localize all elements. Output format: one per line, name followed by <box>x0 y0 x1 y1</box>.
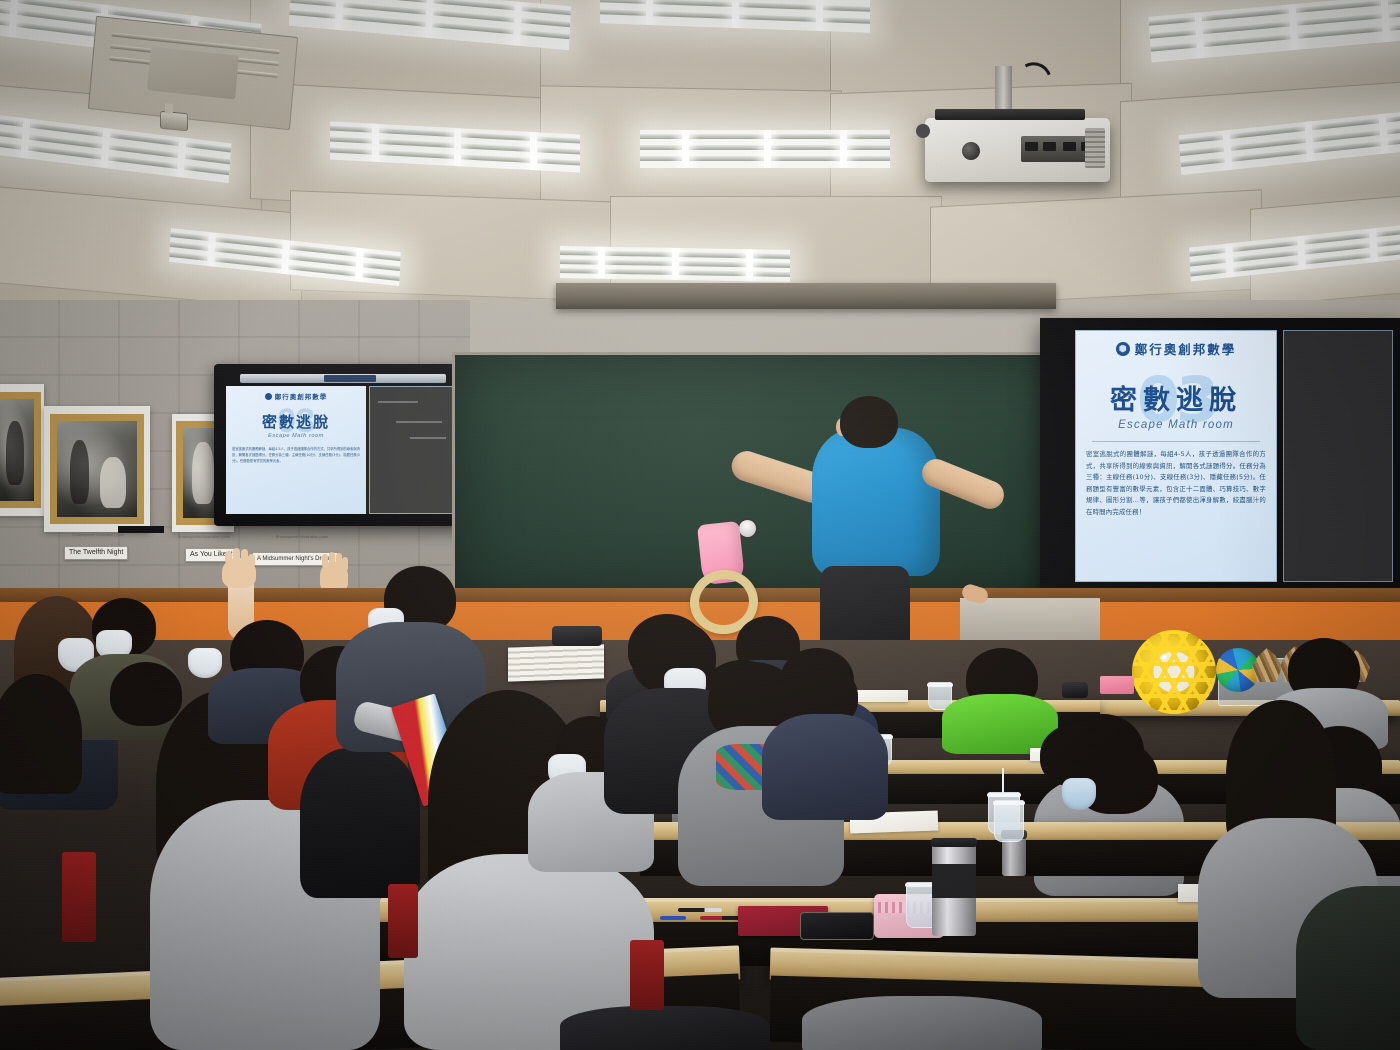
pink-box <box>1100 676 1134 694</box>
black-case <box>1062 682 1088 698</box>
slide-body-text: 密室逃脫式的團體解謎，每組4-5人，孩子透過團隊合作的方式，共享所得到的線索與資… <box>1086 449 1266 518</box>
poster-label-twelfth-night: The Twelfth Night <box>64 546 128 560</box>
tv-screen: 鄭行奧創邦數學 03 密數逃脫 Escape Math room 密室逃脫式的團… <box>226 386 460 514</box>
student-body <box>560 1006 770 1050</box>
poster-caption: Shakespeare illustration plate <box>176 534 232 539</box>
slide-logo-text: 鄭行奧創邦數學 <box>1135 339 1237 358</box>
classroom-photo: Shakespeare illustration plate The Twelf… <box>0 0 1400 1050</box>
student-body <box>802 996 1042 1050</box>
classroom-chair[interactable] <box>630 940 664 1010</box>
face-mask <box>1062 778 1096 810</box>
slide-title: 密數逃脫 <box>1086 378 1266 417</box>
poster-frame <box>0 384 44 516</box>
stack-of-booklets <box>508 644 604 681</box>
brand-logo-icon <box>1116 342 1130 356</box>
parent-body <box>1296 886 1400 1050</box>
tv-slide-body: 密室逃脫式的團體解謎，每組4-5人，孩子透過團隊合作的方式，共享所得到的線索與資… <box>232 446 360 465</box>
ballpoint-pen <box>678 908 722 912</box>
black-case <box>552 626 602 646</box>
drinking-straw <box>1002 768 1004 794</box>
tv-slide-dark-panel <box>369 386 460 514</box>
ceiling-light-panel <box>640 130 890 168</box>
slide-subtitle: Escape Math room <box>1086 419 1266 431</box>
poster-frame <box>44 406 150 532</box>
brand-logo-icon <box>265 393 272 400</box>
teacher-head <box>840 396 898 448</box>
classroom-chair[interactable] <box>388 884 418 958</box>
clear-plastic-cup <box>994 800 1024 842</box>
tv-slide: 鄭行奧創邦數學 03 密數逃脫 Escape Math room 密室逃脫式的團… <box>226 386 366 514</box>
stainless-steel-tumbler <box>1002 836 1026 876</box>
ballpoint-pen <box>700 916 740 920</box>
tv-slide-title: 密數逃脫 <box>232 411 360 432</box>
wall-tv-monitor: 鄭行奧創邦數學 03 密數逃脫 Escape Math room 密室逃脫式的團… <box>214 364 472 526</box>
tv-logo-text: 鄭行奧創邦數學 <box>275 391 328 401</box>
tv-top-bar <box>240 374 446 383</box>
teacher-shirt <box>812 428 940 576</box>
smoke-detector-icon <box>160 111 188 131</box>
slide-dark-panel <box>1283 330 1393 582</box>
raised-hand <box>222 558 256 588</box>
black-smartphone <box>800 912 874 940</box>
student-head <box>110 662 182 726</box>
student-body <box>762 714 888 820</box>
ceiling <box>0 0 1400 330</box>
slide-divider <box>1092 441 1260 442</box>
student-jacket <box>300 748 420 898</box>
pulldown-screen-roller[interactable] <box>556 283 1056 309</box>
ceiling-light-panel <box>560 246 790 282</box>
face-mask <box>188 648 222 678</box>
tv-stand <box>118 526 164 533</box>
yellow-polyhedron-sphere <box>1132 630 1216 714</box>
projected-slide: 鄭行奧創邦數學 03 密數逃脫 Escape Math room 密室逃脫式的團… <box>1075 330 1277 582</box>
classroom-chair[interactable] <box>62 852 96 942</box>
poster-caption: Shakespeare illustration plate <box>252 534 352 539</box>
stainless-steel-tumbler <box>932 844 976 936</box>
ballpoint-pen <box>660 916 686 920</box>
tv-slide-subtitle: Escape Math room <box>232 433 360 439</box>
student-hair <box>0 674 82 794</box>
ceiling-projector <box>925 118 1110 182</box>
